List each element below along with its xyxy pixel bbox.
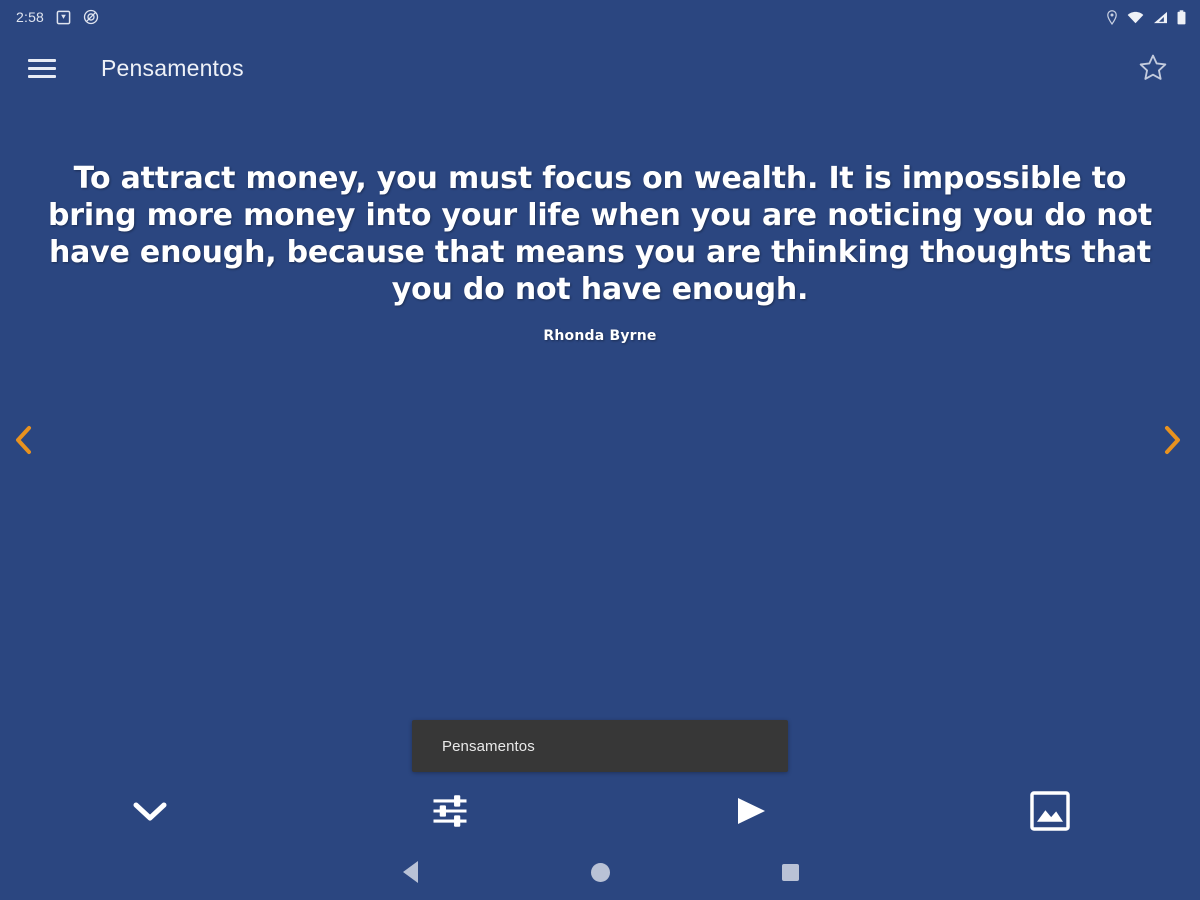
- chevron-left-icon: [11, 423, 37, 457]
- status-clock: 2:58: [16, 9, 44, 25]
- sliders-icon: [428, 789, 472, 833]
- chevron-right-icon: [1159, 423, 1185, 457]
- quote-author: Rhonda Byrne: [40, 328, 1160, 344]
- image-button[interactable]: [900, 778, 1200, 844]
- hamburger-menu-icon[interactable]: [28, 53, 58, 83]
- wifi-icon: [1127, 11, 1144, 24]
- android-home-button[interactable]: [505, 863, 695, 882]
- send-icon: [727, 790, 773, 832]
- home-circle-icon: [591, 863, 610, 882]
- next-quote-button[interactable]: [1148, 416, 1196, 464]
- android-recents-button[interactable]: [695, 864, 885, 881]
- status-bar-left: 2:58: [16, 9, 99, 25]
- no-sound-icon: [83, 9, 99, 25]
- chevron-down-icon: [129, 796, 171, 826]
- status-bar-right: [1106, 10, 1186, 25]
- hamburger-line: [28, 75, 56, 78]
- hamburger-line: [28, 59, 56, 62]
- toast-text: Pensamentos: [442, 738, 535, 755]
- action-bar: [0, 778, 1200, 844]
- favorite-button[interactable]: [1130, 45, 1176, 91]
- status-bar: 2:58: [0, 0, 1200, 34]
- image-icon: [1027, 788, 1073, 834]
- back-triangle-icon: [403, 861, 418, 883]
- android-navigation-bar: [0, 844, 1200, 900]
- page-title: Pensamentos: [101, 55, 244, 82]
- quote-text: To attract money, you must focus on weal…: [40, 160, 1160, 308]
- recents-square-icon: [782, 864, 799, 881]
- battery-icon: [1177, 10, 1186, 25]
- collapse-button[interactable]: [0, 778, 300, 844]
- android-back-button[interactable]: [315, 861, 505, 883]
- tune-button[interactable]: [300, 778, 600, 844]
- hamburger-line: [28, 67, 56, 70]
- toast-message: Pensamentos: [412, 720, 788, 772]
- location-icon: [1106, 10, 1118, 25]
- quote-container: To attract money, you must focus on weal…: [0, 160, 1200, 344]
- send-button[interactable]: [600, 778, 900, 844]
- previous-quote-button[interactable]: [0, 416, 48, 464]
- sd-card-icon: [56, 10, 71, 25]
- star-outline-icon: [1136, 51, 1170, 85]
- cell-signal-icon: [1153, 11, 1168, 24]
- app-bar: Pensamentos: [0, 34, 1200, 102]
